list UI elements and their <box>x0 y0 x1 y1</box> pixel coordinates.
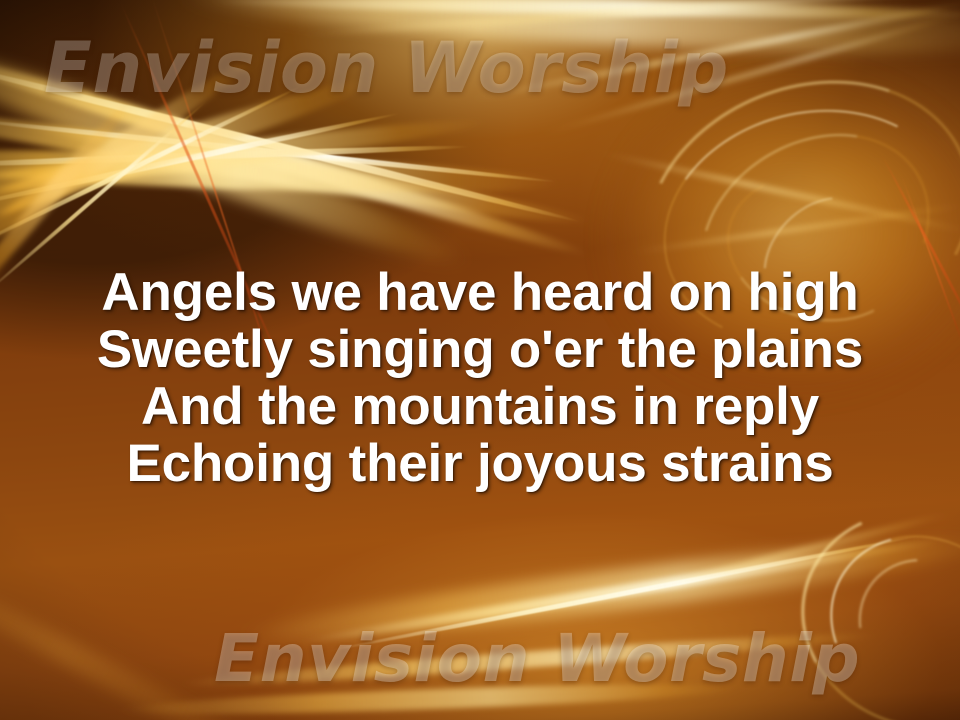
lyrics-block: Angels we have heard on high Sweetly sin… <box>0 264 960 492</box>
worship-lyric-slide: Envision Worship Angels we have heard on… <box>0 0 960 720</box>
watermark-top: Envision Worship <box>44 27 729 109</box>
watermark-bottom: Envision Worship <box>214 620 860 697</box>
lyric-line-3: And the mountains in reply <box>0 378 960 435</box>
lyric-line-4: Echoing their joyous strains <box>0 435 960 492</box>
lyric-line-2: Sweetly singing o'er the plains <box>0 321 960 378</box>
lyric-line-1: Angels we have heard on high <box>0 264 960 321</box>
